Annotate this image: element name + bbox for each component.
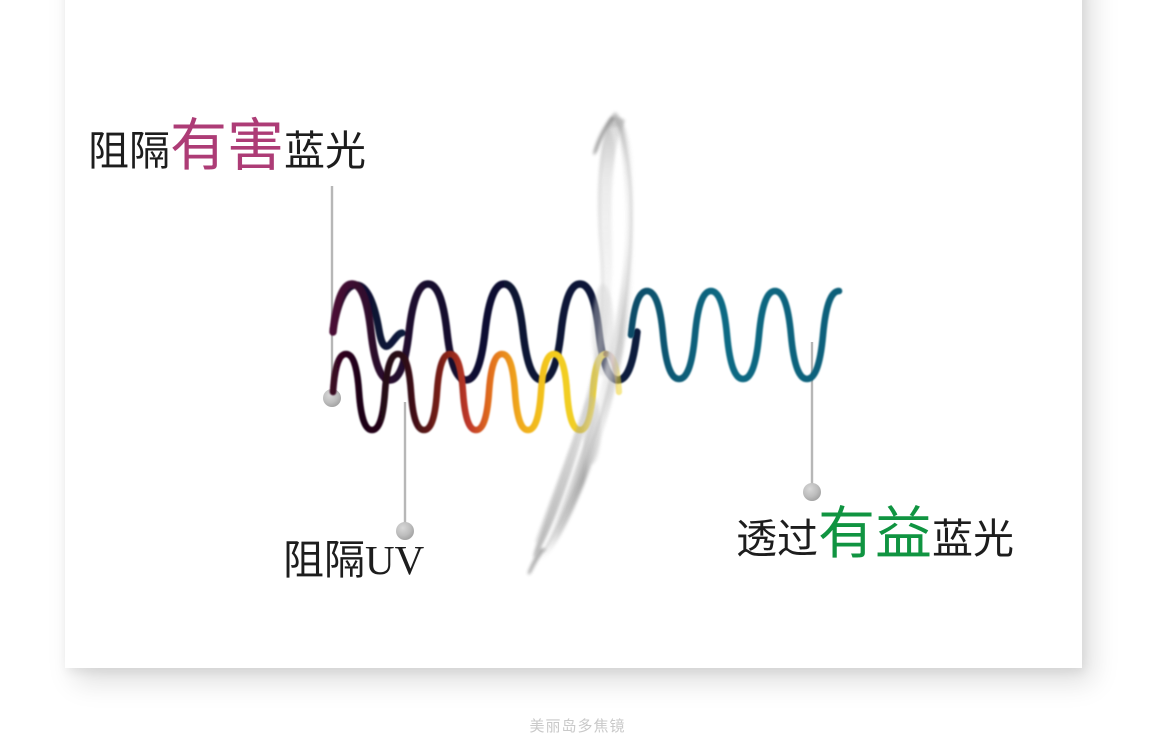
- white-card: [65, 0, 1082, 668]
- watermark-text: 美丽岛多焦镜: [0, 715, 1155, 736]
- diagram-stage: 阻隔有害蓝光 透过有益蓝光 阻隔UV 美丽岛多焦镜: [0, 0, 1155, 741]
- label-beneficial-highlight: 有益: [818, 503, 932, 566]
- label-beneficial-suffix: 蓝光: [932, 516, 1014, 562]
- label-harmful-prefix: 阻隔: [88, 128, 170, 174]
- label-block-uv: 阻隔UV: [283, 540, 424, 581]
- label-block-beneficial: 透过有益蓝光: [736, 506, 1014, 563]
- label-beneficial-prefix: 透过: [736, 516, 818, 562]
- label-block-harmful: 阻隔有害蓝光: [88, 118, 366, 175]
- label-harmful-suffix: 蓝光: [284, 128, 366, 174]
- label-harmful-highlight: 有害: [170, 115, 284, 178]
